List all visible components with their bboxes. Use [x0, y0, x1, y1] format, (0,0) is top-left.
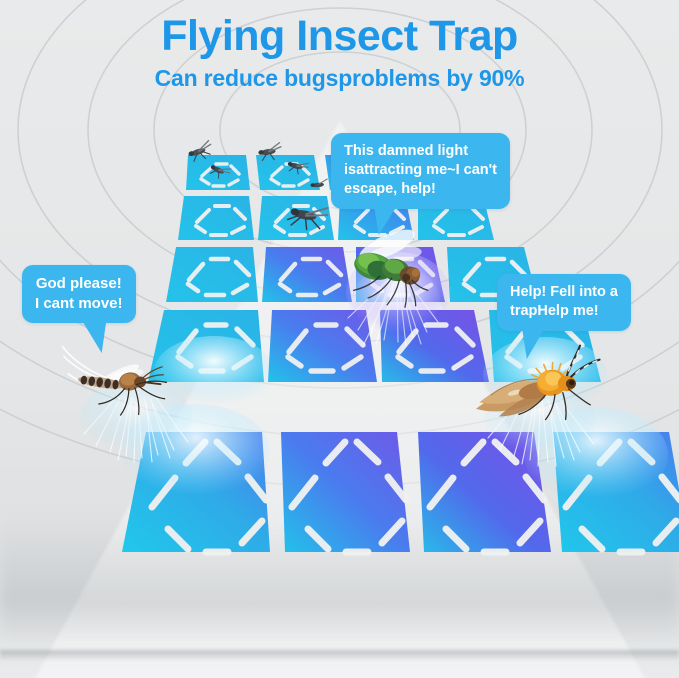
page-title: Flying Insect Trap: [0, 14, 679, 60]
speech-line: trapHelp me!: [510, 302, 618, 321]
pad-row-5: [122, 404, 679, 552]
speech-bubble-moth: Help! Fell into a trapHelp me!: [497, 274, 631, 331]
header: Flying Insect Trap Can reduce bugsproble…: [0, 14, 679, 91]
speech-line: This damned light: [344, 142, 497, 161]
speech-line: isattracting me~I can't: [344, 161, 497, 180]
trap-pad: [178, 196, 254, 240]
speech-line: escape, help!: [344, 180, 497, 199]
page-subtitle: Can reduce bugsproblems by 90%: [0, 66, 679, 91]
speech-bubble-housefly: This damned light isattracting me~I can'…: [331, 133, 510, 209]
speech-line: I cant move!: [35, 294, 123, 314]
trap-pad: [268, 310, 377, 382]
trap-pad: [256, 155, 320, 190]
trap-pad: [258, 196, 334, 240]
trap-pad: [262, 247, 352, 302]
speech-bubble-mosquito: God please! I cant move!: [22, 265, 136, 323]
product-infographic: Flying Insect Trap Can reduce bugsproble…: [0, 0, 679, 678]
trap-pad: [281, 432, 410, 552]
trap-pad: [166, 247, 258, 302]
speech-line: God please!: [35, 274, 123, 294]
speech-line: Help! Fell into a: [510, 283, 618, 302]
